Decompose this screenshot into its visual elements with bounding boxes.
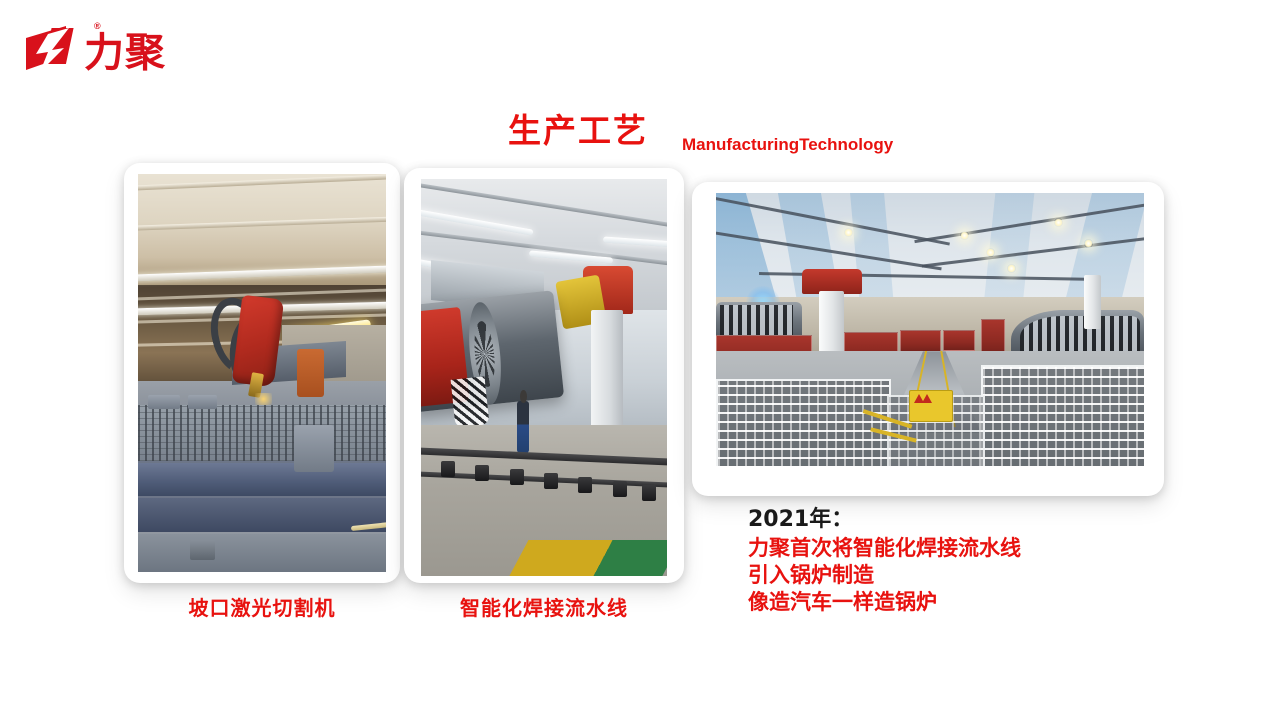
note-line-2: 引入锅炉制造 <box>748 562 1168 589</box>
intelligent-welding-line-wide-photo <box>716 193 1144 466</box>
intelligent-welding-line-photo <box>421 179 667 576</box>
brand-name: 力聚 <box>84 30 166 76</box>
milestone-note: 2021年： 力聚首次将智能化焊接流水线 引入锅炉制造 像造汽车一样造锅炉 <box>748 505 1168 616</box>
note-year: 2021年： <box>748 505 1168 535</box>
warning-sign-icon <box>909 390 954 422</box>
card-caption-welding-line: 智能化焊接流水线 <box>404 595 684 621</box>
photo-card-laser-cutting <box>124 163 400 583</box>
note-line-1: 力聚首次将智能化焊接流水线 <box>748 535 1168 562</box>
photo-card-welding-line <box>404 168 684 583</box>
note-line-3: 像造汽车一样造锅炉 <box>748 589 1168 616</box>
photo-card-welding-line-wide: 智能化焊接流水线 <box>692 182 1164 496</box>
brand-logo: ® 力聚 <box>22 22 212 84</box>
liju-bolt-logo-icon <box>22 26 88 78</box>
bevel-laser-cutting-machine-photo <box>138 174 386 572</box>
page-title: 生产工艺 <box>508 111 648 151</box>
card-caption-laser-cutting: 坡口激光切割机 <box>124 595 400 621</box>
page-subtitle: ManufacturingTechnology <box>682 134 893 156</box>
